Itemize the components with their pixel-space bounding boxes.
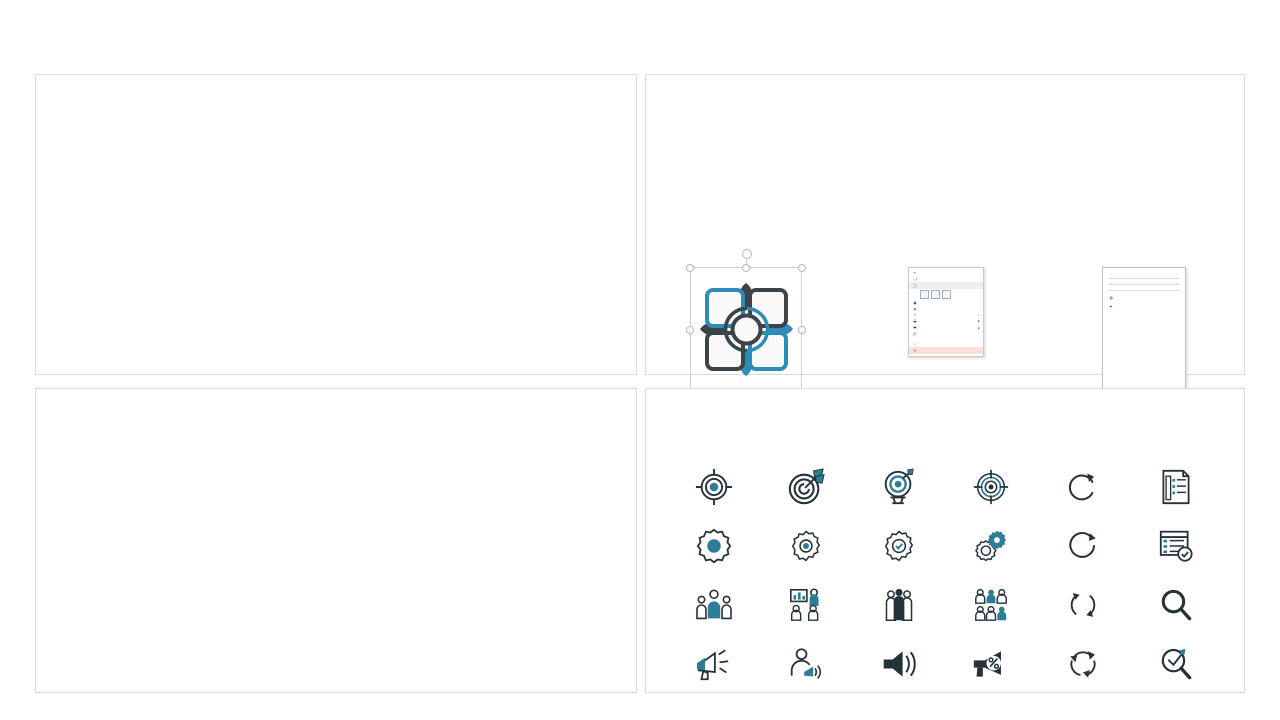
- divider: [1108, 278, 1180, 279]
- panel-editable-icons: [645, 388, 1245, 693]
- icon-cell[interactable]: [881, 648, 917, 680]
- icon-cell[interactable]: [695, 468, 733, 506]
- magnifier-target-icon: [1159, 647, 1193, 681]
- icon-cell[interactable]: [1159, 588, 1193, 622]
- icon-cell[interactable]: [1066, 647, 1100, 681]
- icon-cell[interactable]: [1159, 469, 1193, 505]
- crosshair-target-icon: [972, 468, 1010, 506]
- panel-resize-shape-edit-color: ✂ ❏ 📋 ▣ ◈ ⊞▸ ⬓▸ ⬒▸ 🔗 ↕ ✎: [645, 74, 1245, 375]
- icon-cell[interactable]: [972, 468, 1010, 506]
- edit-points-icon: ◈: [912, 307, 918, 311]
- group-icon: ⊞: [912, 313, 918, 317]
- icon-cell[interactable]: [972, 648, 1010, 680]
- double-gear-icon: [973, 529, 1009, 563]
- icon-cell[interactable]: [1158, 529, 1194, 563]
- divider: [1108, 290, 1180, 291]
- speaker-icon: [881, 648, 917, 680]
- meeting-team-icon: [973, 588, 1009, 622]
- icon-cell[interactable]: [787, 468, 825, 506]
- icon-cell[interactable]: [789, 529, 823, 563]
- resize-handle-e[interactable]: [798, 326, 806, 334]
- more-colors-button[interactable]: ◍: [1108, 293, 1180, 302]
- chevron-right-icon: ▸: [978, 326, 980, 330]
- icon-cell[interactable]: [1066, 588, 1100, 622]
- megaphone-percent-icon: [972, 648, 1010, 680]
- magnifier-icon: [1159, 588, 1193, 622]
- edit-text-icon: ▣: [912, 301, 918, 305]
- target-crosshair-icon: [695, 468, 733, 506]
- icon-gallery-grid: [668, 457, 1222, 693]
- eyedropper-icon: ✒: [1109, 304, 1113, 309]
- menu-item-format-shape[interactable]: ✎: [909, 347, 983, 353]
- panel-use-own-icons: ✂ ❐ 📋 ⊞▸ ⬓▸ ⬒▸ 🔗 ↕ ✎ ⊞ ⊟ ⊡: [35, 388, 637, 693]
- resize-handle-n[interactable]: [742, 264, 750, 272]
- icon-cell[interactable]: [788, 647, 824, 681]
- icon-cell[interactable]: [696, 588, 732, 622]
- send-back-icon: ⬒: [912, 326, 918, 330]
- icon-cell[interactable]: [788, 588, 824, 622]
- format-shape-icon: ✎: [912, 349, 918, 353]
- palette-icon: ◍: [1109, 295, 1113, 300]
- checklist-document-icon: [1159, 469, 1193, 505]
- chevron-right-icon: ▸: [978, 313, 980, 317]
- gear-check-icon: [882, 529, 916, 563]
- scissors-icon: ✂: [912, 271, 918, 275]
- resize-handle-nw[interactable]: [686, 264, 694, 272]
- person-megaphone-icon: [788, 647, 824, 681]
- bring-front-icon: ⬓: [912, 319, 918, 323]
- target-on-stand-icon: [880, 468, 918, 506]
- resize-step-2-cell: ✂ ❏ 📋 ▣ ◈ ⊞▸ ⬓▸ ⬒▸ 🔗 ↕ ✎: [845, 267, 1044, 397]
- icon-cell[interactable]: [1066, 470, 1100, 504]
- icon-cell[interactable]: [696, 528, 732, 564]
- panel-edit-any-shape: [35, 74, 637, 375]
- presentation-team-icon: [788, 588, 824, 622]
- icon-cell[interactable]: [881, 588, 917, 622]
- selected-shape-graphic[interactable]: [690, 267, 802, 392]
- cycle-arrows-icon: [1066, 588, 1100, 622]
- slide-canvas: ✂ ❏ 📋 ▣ ◈ ⊞▸ ⬓▸ ⬒▸ 🔗 ↕ ✎: [0, 0, 1280, 720]
- chevron-right-icon: ▸: [978, 319, 980, 323]
- hyperlink-icon: 🔗: [912, 332, 918, 336]
- icon-cell[interactable]: [973, 529, 1009, 563]
- paste-keep-text-icon[interactable]: [942, 290, 951, 299]
- resize-step-3-cell: ◍ ✒: [1045, 267, 1244, 397]
- icon-cell[interactable]: [880, 468, 918, 506]
- megaphone-icon: [695, 647, 733, 681]
- gear-dot-icon: [789, 529, 823, 563]
- divider: [1108, 284, 1180, 285]
- gear-filled-icon: [696, 528, 732, 564]
- paste-keep-formatting-icon[interactable]: [920, 290, 929, 299]
- paste-option-buttons[interactable]: [909, 289, 983, 300]
- paste-picture-icon[interactable]: [931, 290, 940, 299]
- document-check-icon: [1158, 529, 1194, 563]
- icon-cell[interactable]: [1159, 647, 1193, 681]
- resize-handle-ne[interactable]: [798, 264, 806, 272]
- icon-cell[interactable]: [973, 588, 1009, 622]
- team-leader-icon: [696, 588, 732, 622]
- paste-icon: 📋: [912, 284, 918, 288]
- reload-arrow-icon: [1066, 529, 1100, 563]
- refresh-arrow-icon: [1066, 470, 1100, 504]
- resize-shape-graphics: ✂ ❏ 📋 ▣ ◈ ⊞▸ ⬓▸ ⬒▸ 🔗 ↕ ✎: [646, 267, 1244, 397]
- eyedropper-button[interactable]: ✒: [1108, 302, 1180, 311]
- recycle-arrows-icon: [1066, 647, 1100, 681]
- rotation-handle[interactable]: [742, 249, 752, 259]
- people-group-icon: [881, 588, 917, 622]
- selection-frame: [690, 267, 802, 392]
- copy-icon: ❏: [912, 277, 918, 281]
- shape-context-menu[interactable]: ✂ ❏ 📋 ▣ ◈ ⊞▸ ⬓▸ ⬒▸ 🔗 ↕ ✎: [908, 267, 984, 357]
- resize-step-1-cell: [646, 267, 845, 397]
- color-picker-panel[interactable]: ◍ ✒: [1102, 267, 1186, 397]
- dartboard-arrow-icon: [787, 468, 825, 506]
- icon-cell[interactable]: [1066, 529, 1100, 563]
- icon-cell[interactable]: [695, 647, 733, 681]
- icon-cell[interactable]: [882, 529, 916, 563]
- size-position-icon: ↕: [912, 342, 918, 346]
